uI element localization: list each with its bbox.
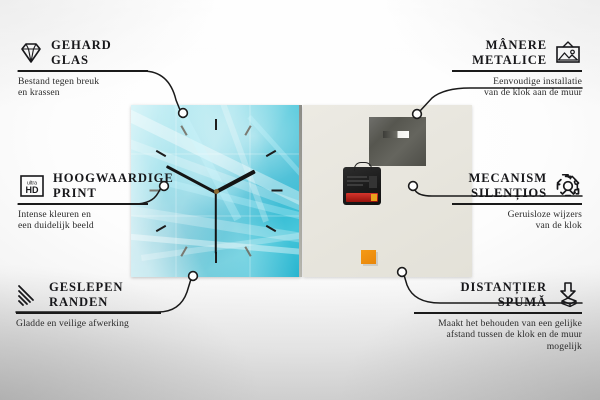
feature-geslepen-randen: GESLEPEN RANDEN Gladde en veilige afwerk… bbox=[16, 280, 161, 329]
title-underline bbox=[414, 312, 582, 313]
clock-back-panel bbox=[303, 105, 472, 277]
feature-description: Bestand tegen breuk en krassen bbox=[18, 76, 148, 99]
feature-title: HOOGWAARDIGE PRINT bbox=[53, 171, 174, 200]
title-underline bbox=[18, 203, 148, 204]
foam-spacer bbox=[361, 250, 376, 264]
feature-title: MÂNERE METALICE bbox=[452, 38, 547, 67]
spacer-arrow-icon bbox=[554, 281, 582, 308]
title-underline bbox=[18, 70, 148, 71]
feature-description: Geruisloze wijzers van de klok bbox=[452, 209, 582, 232]
feature-gehard-glas: GEHARD GLAS Bestand tegen breuk en krass… bbox=[18, 38, 148, 99]
hanger-slot bbox=[383, 131, 409, 138]
feature-description: Gladde en veilige afwerking bbox=[16, 318, 161, 330]
feature-description: Intense kleuren en een duidelijk beeld bbox=[18, 209, 148, 232]
product-image bbox=[131, 105, 472, 277]
ultra-hd-icon: ultra HD bbox=[18, 173, 46, 199]
clock-second-hand bbox=[215, 192, 217, 254]
battery-positive-terminal bbox=[371, 194, 377, 201]
feature-title: GESLEPEN RANDEN bbox=[49, 280, 123, 309]
feature-description: Maakt het behouden van een gelijke afsta… bbox=[414, 318, 582, 353]
mechanism-hanging-loop bbox=[354, 162, 372, 171]
glass-edge bbox=[299, 105, 302, 277]
feature-distantier-spuma: DISTANȚIER SPUMĂ Maakt het behouden van … bbox=[414, 280, 582, 352]
feature-manere-metalice: MÂNERE METALICE Eenvoudige installatie v… bbox=[452, 38, 582, 99]
feature-title: GEHARD GLAS bbox=[51, 38, 112, 67]
beveled-edges-icon bbox=[16, 283, 42, 307]
feature-mecanism-silentios: MECANISM SILENȚIOS Geruisloze wijzers va… bbox=[452, 171, 582, 232]
feature-hoogwaardige-print: ultra HD HOOGWAARDIGE PRINT Intense kleu… bbox=[18, 171, 148, 232]
title-underline bbox=[452, 70, 582, 71]
gear-icon bbox=[554, 173, 582, 199]
title-underline bbox=[452, 203, 582, 204]
svg-text:HD: HD bbox=[26, 185, 39, 195]
title-underline bbox=[16, 312, 161, 313]
infographic-canvas: GEHARD GLAS Bestand tegen breuk en krass… bbox=[0, 0, 600, 400]
diamond-icon bbox=[18, 41, 44, 65]
clock-battery bbox=[346, 193, 378, 202]
hanging-picture-icon bbox=[554, 40, 582, 65]
clock-center-hub bbox=[214, 189, 219, 194]
clock-mechanism bbox=[343, 167, 381, 205]
metal-hanger-plate bbox=[369, 117, 426, 166]
feature-description: Eenvoudige installatie van de klok aan d… bbox=[452, 76, 582, 99]
feature-title: DISTANȚIER SPUMĂ bbox=[414, 280, 547, 309]
feature-title: MECANISM SILENȚIOS bbox=[452, 171, 547, 200]
